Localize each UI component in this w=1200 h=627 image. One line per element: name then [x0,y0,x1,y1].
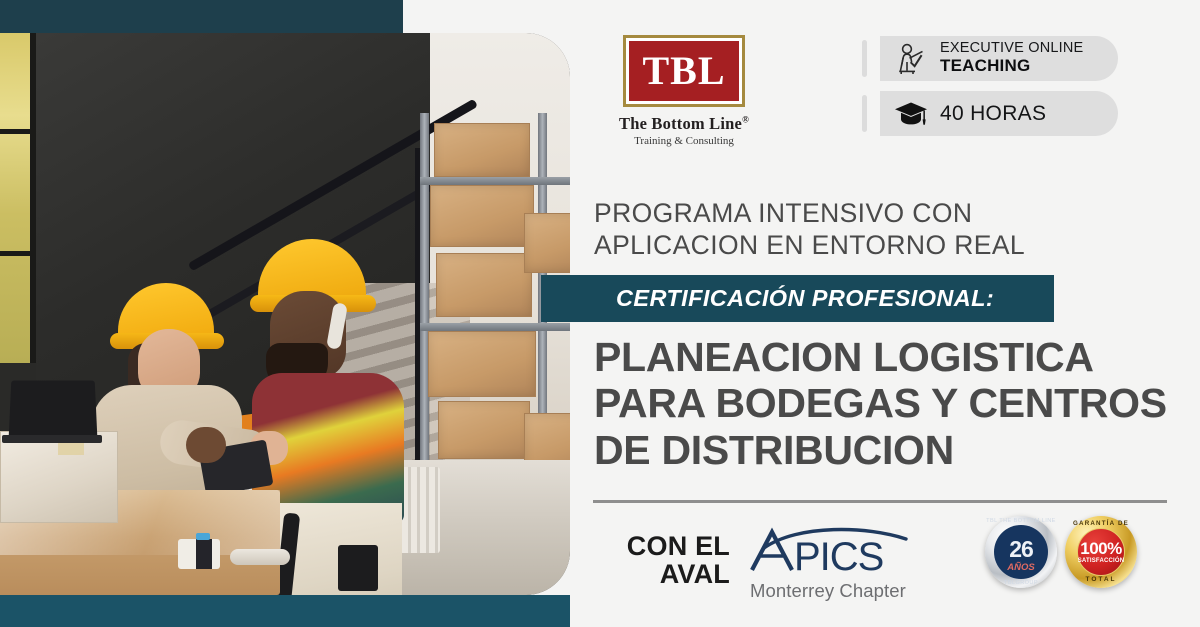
kicker-line-2: APLICACION EN ENTORNO REAL [594,230,1154,262]
page-title: PLANEACION LOGISTICA PARA BODEGAS Y CENT… [594,334,1194,473]
hero-photo-warehouse-workers [0,33,570,595]
endorsement-line-1: CON EL [620,532,730,560]
guarantee-seal: GARANTÍA DE 100% SATISFACCIÓN TOTAL [1065,516,1137,588]
kicker-line-1: PROGRAMA INTENSIVO CON [594,198,1154,230]
certification-banner-label: CERTIFICACIÓN PROFESIONAL: [541,285,994,312]
guarantee-seal-percent: 100% [1080,540,1121,557]
endorsement-line-2: AVAL [620,560,730,588]
photo-tape-dispenser-handle [196,533,210,540]
photo-tape-dispenser-body [196,539,212,569]
badge-line-1: EXECUTIVE ONLINE [940,41,1083,57]
badge-text: EXECUTIVE ONLINE TEACHING [940,41,1083,75]
badge-line-1: 40 HORAS [940,102,1046,126]
badge-group: EXECUTIVE ONLINE TEACHING [862,36,1132,146]
content-panel: TBL The Bottom Line® Training & Consulti… [570,0,1200,627]
photo-box [434,123,530,177]
photo-roller [230,549,290,565]
title-line-3: DE DISTRIBUCION [594,427,1194,473]
badge-executive-online-teaching[interactable]: EXECUTIVE ONLINE TEACHING [862,36,1132,81]
photo-worker2-hand [186,427,226,463]
photo-illustration [0,33,570,595]
tbl-logo[interactable]: TBL The Bottom Line® Training & Consulti… [614,35,754,147]
anniversary-seal-arc-bottom: TBLGROUP [1004,580,1038,586]
anniversary-seal-label: AÑOS [1007,562,1034,573]
photo-box [524,213,570,273]
tbl-logo-tagline: Training & Consulting [614,135,754,147]
photo-window-mullion-2 [0,251,32,256]
photo-box [428,331,536,397]
footer-divider [593,500,1167,503]
svg-text:PICS: PICS [794,535,883,576]
endorsement-label: CON EL AVAL [620,532,730,589]
photo-box [436,253,532,317]
tbl-logo-name-text: The Bottom Line [619,114,742,133]
apics-chapter-label: Monterrey Chapter [750,580,920,602]
anniversary-seal-arc-top: TBL THE BOTTOM LINE [986,518,1056,524]
anniversary-seal-number: 26 [1009,538,1033,561]
photo-laptop [9,380,98,437]
bottom-left-accent-band [0,595,403,627]
tbl-logo-red-box: TBL [629,41,739,101]
badge-tick-mark [862,95,867,132]
apics-logo-svg: PICS [750,526,910,576]
photo-box [438,401,530,459]
badge-duration-hours[interactable]: 40 HORAS [862,91,1132,136]
badge-line-2: TEACHING [940,57,1083,75]
registered-mark: ® [742,115,749,125]
badge-pill: EXECUTIVE ONLINE TEACHING [880,36,1118,81]
guarantee-seal-arc-top: GARANTÍA DE [1073,520,1129,527]
anniversary-seal-center: 26 AÑOS [994,525,1048,579]
photo-rack-beam-1 [420,177,570,185]
header-row: TBL The Bottom Line® Training & Consulti… [570,0,1200,160]
bottom-accent-band-right [390,595,570,627]
title-line-2: PARA BODEGAS Y CENTROS [594,380,1194,426]
apics-logo[interactable]: PICS Monterrey Chapter [750,524,920,602]
top-left-accent-band [0,0,403,33]
tbl-logo-frame: TBL [623,35,745,107]
anniversary-seal: TBL THE BOTTOM LINE 26 AÑOS TBLGROUP [985,516,1057,588]
photo-laptop-base [2,435,102,443]
certification-banner: CERTIFICACIÓN PROFESIONAL: [541,275,1054,322]
seal-group: TBL THE BOTTOM LINE 26 AÑOS TBLGROUP GAR… [985,516,1137,588]
guarantee-seal-label: SATISFACCIÓN [1078,558,1125,564]
photo-window-mullion [0,129,32,134]
photo-rack-beam-2 [420,323,570,331]
photo-worker2-pocket [338,545,378,591]
apics-wordmark: PICS [750,524,910,578]
badge-tick-mark [862,40,867,77]
kicker-text: PROGRAMA INTENSIVO CON APLICACION EN ENT… [594,198,1154,261]
graduation-cap-icon [894,101,928,127]
photo-window [0,33,32,363]
photo-box [430,185,534,247]
footer-row: CON EL AVAL PICS Monterrey Chapter TBL T… [570,516,1200,616]
badge-pill: 40 HORAS [880,91,1118,136]
photo-window-frame [30,33,36,363]
guarantee-seal-center: 100% SATISFACCIÓN [1077,528,1125,576]
guarantee-seal-arc-bottom: TOTAL [1085,576,1116,583]
presenter-icon [894,43,928,75]
tbl-logo-name: The Bottom Line® [614,114,754,134]
tbl-logo-letters: TBL [642,51,725,91]
title-line-1: PLANEACION LOGISTICA [594,334,1194,380]
